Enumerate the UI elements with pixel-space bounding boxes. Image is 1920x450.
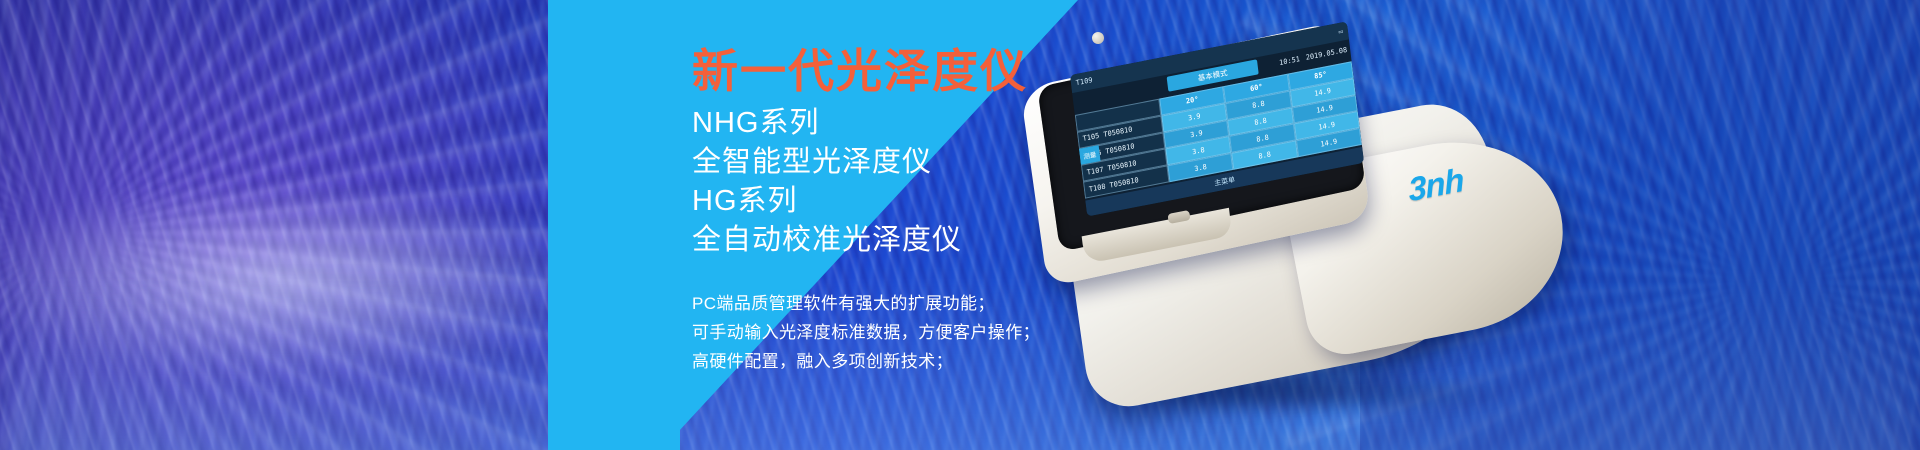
subtitle-line-4: 全自动校准光泽度仪 xyxy=(692,221,962,260)
screen-date: 2019.05.08 xyxy=(1305,46,1347,62)
feature-list: PC端品质管理软件有强大的扩展功能； 可手动输入光泽度标准数据，方便客户操作； … xyxy=(692,289,1040,376)
subtitle-list: NHG系列 全智能型光泽度仪 HG系列 全自动校准光泽度仪 xyxy=(692,104,962,260)
cyan-panel-fill xyxy=(548,0,680,450)
feature-line-1: PC端品质管理软件有强大的扩展功能； xyxy=(692,289,1040,318)
subtitle-line-3: HG系列 xyxy=(692,182,962,221)
subtitle-line-1: NHG系列 xyxy=(692,104,962,143)
feature-line-2: 可手动输入光泽度标准数据，方便客户操作； xyxy=(692,318,1040,347)
screen-title: T109 xyxy=(1075,76,1093,87)
product-banner: 新一代光泽度仪 NHG系列 全智能型光泽度仪 HG系列 全自动校准光泽度仪 PC… xyxy=(0,0,1920,450)
feature-line-3: 高硬件配置，融入多项创新技术； xyxy=(692,347,1040,376)
screen-time: 10:51 xyxy=(1279,55,1301,67)
banner-headline: 新一代光泽度仪 xyxy=(692,48,1028,94)
battery-icon: ▭ xyxy=(1338,27,1343,36)
subtitle-line-2: 全智能型光泽度仪 xyxy=(692,143,962,182)
